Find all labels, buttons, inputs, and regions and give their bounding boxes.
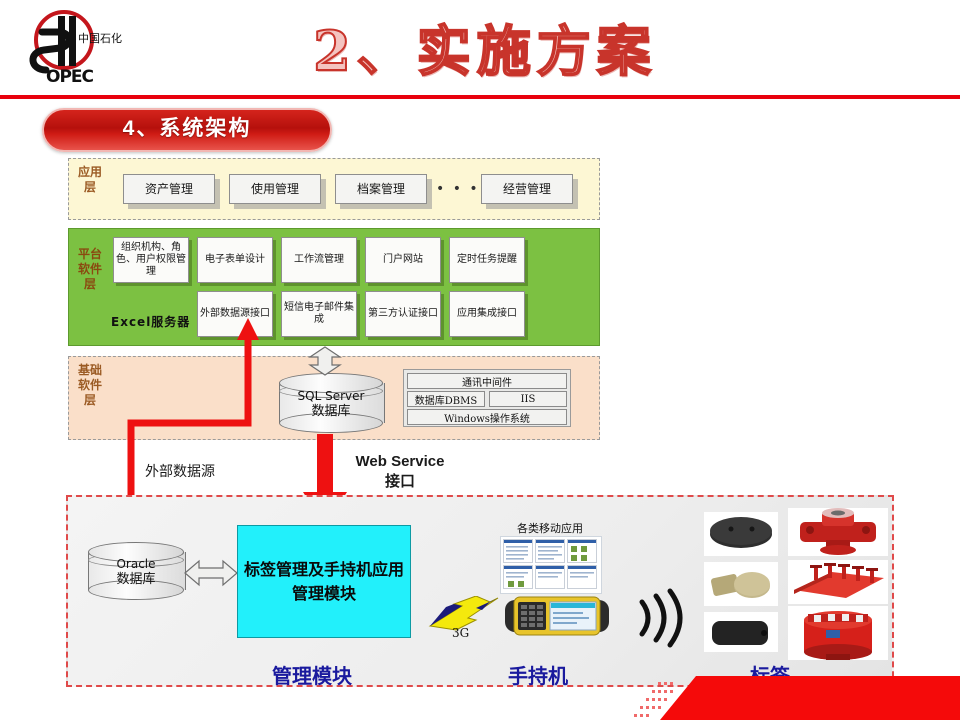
svg-text:OPEC: OPEC <box>46 67 94 87</box>
stack-item-middleware[interactable]: 通讯中间件 <box>407 373 567 389</box>
handheld-terminal-device <box>504 594 610 638</box>
caption-management-module: 管理模块 <box>272 660 352 689</box>
platform-module-app-integration[interactable]: 应用集成接口 <box>449 291 525 337</box>
platform-layer-label: 平台软件层 <box>77 247 103 292</box>
rfid-tag-photo-disc <box>704 512 778 556</box>
page-title: 2、实施方案 <box>250 12 720 90</box>
stack-item-windows-os[interactable]: Windows操作系统 <box>407 409 567 425</box>
rfid-tag-photo-beige <box>704 562 778 606</box>
oracle-sub: 数据库 <box>88 572 184 587</box>
oracle-name: Oracle <box>88 557 184 572</box>
platform-module-eform-design[interactable]: 电子表单设计 <box>197 237 273 283</box>
platform-module-third-party-auth[interactable]: 第三方认证接口 <box>365 291 441 337</box>
web-service-line2: 接口 <box>330 472 470 492</box>
software-stack-frame: 通讯中间件 数据库DBMS IIS Windows操作系统 <box>403 369 571 427</box>
equipment-photo-manifold <box>788 560 888 604</box>
infrastructure-layer-label: 基础软件层 <box>77 363 103 408</box>
network-3g-label: 3G <box>452 626 469 640</box>
stack-item-iis[interactable]: IIS <box>489 391 567 407</box>
platform-module-org-role-permission[interactable]: 组织机构、角色、用户权限管理 <box>113 237 189 283</box>
app-module-usage[interactable]: 使用管理 <box>229 174 321 204</box>
sql-server-sub: 数据库 <box>279 404 383 419</box>
sinopec-logo: 中国石化 OPEC <box>16 8 128 88</box>
equipment-photo-wellhead <box>788 508 888 556</box>
mobile-apps-collage <box>500 536 602 594</box>
web-service-line1: Web Service <box>330 452 470 472</box>
external-datasource-label: 外部数据源 <box>145 461 215 481</box>
sql-server-database-cylinder: SQL Server 数据库 <box>279 373 383 433</box>
caption-handheld: 手持机 <box>508 660 568 689</box>
app-module-operation[interactable]: 经营管理 <box>481 174 573 204</box>
header-rule <box>0 95 960 99</box>
application-layer: 应用层 资产管理 使用管理 档案管理 • • • • • • 经营管理 <box>68 158 600 220</box>
slide-canvas: 中国石化 OPEC 2、实施方案 4、系统架构 应用层 资产管理 使用管理 档案… <box>0 0 960 720</box>
web-service-label: Web Service 接口 <box>330 452 470 492</box>
platform-module-workflow[interactable]: 工作流管理 <box>281 237 357 283</box>
platform-module-portal[interactable]: 门户网站 <box>365 237 441 283</box>
platform-module-sms-email[interactable]: 短信电子邮件集成 <box>281 291 357 337</box>
app-module-asset[interactable]: 资产管理 <box>123 174 215 204</box>
equipment-photo-bop <box>788 606 888 660</box>
section-header-label: 4、系统架构 <box>44 110 330 148</box>
section-header-pill: 4、系统架构 <box>42 108 332 152</box>
footer-decoration <box>600 676 960 720</box>
sql-server-name: SQL Server <box>279 389 383 404</box>
platform-module-scheduled-task[interactable]: 定时任务提醒 <box>449 237 525 283</box>
platform-database-double-arrow-icon <box>307 346 343 376</box>
app-module-archive[interactable]: 档案管理 <box>335 174 427 204</box>
mobile-apps-title: 各类移动应用 <box>498 520 602 534</box>
rfid-signal-waves-icon <box>632 586 696 650</box>
stack-item-dbms[interactable]: 数据库DBMS <box>407 391 485 407</box>
application-layer-label: 应用层 <box>77 165 103 195</box>
oracle-module-double-arrow-icon <box>184 558 238 588</box>
rfid-tag-photo-rect <box>704 612 778 652</box>
svg-text:中国石化: 中国石化 <box>78 31 122 45</box>
oracle-database-cylinder: Oracle 数据库 <box>88 542 184 600</box>
tag-and-handheld-module-box[interactable]: 标签管理及手持机应用管理模块 <box>237 525 411 638</box>
